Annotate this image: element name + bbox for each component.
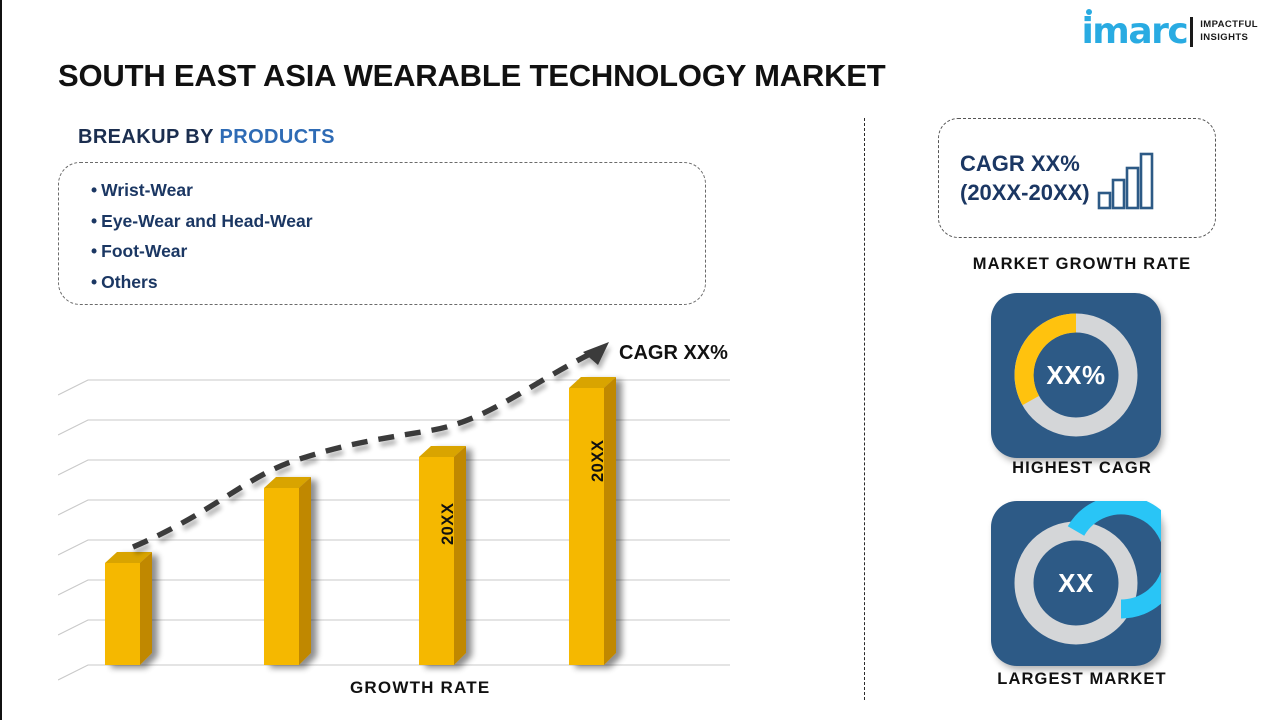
largest-market-tile: XX (991, 501, 1161, 666)
breakup-heading-prefix: BREAKUP BY (78, 126, 219, 148)
slide-canvas: imarc IMPACTFUL INSIGHTS SOUTH EAST ASIA… (0, 0, 1280, 720)
market-growth-line1: CAGR XX% (960, 149, 1090, 178)
bar-2 (264, 477, 311, 665)
chart-svg (58, 330, 748, 685)
bar-1 (105, 552, 152, 665)
bullet-icon: • (91, 241, 97, 261)
list-item: •Foot-Wear (91, 236, 313, 267)
market-growth-line2: (20XX-20XX) (960, 178, 1090, 207)
list-item-label: Foot-Wear (101, 241, 187, 261)
bullet-icon: • (91, 211, 97, 231)
page-title: SOUTH EAST ASIA WEARABLE TECHNOLOGY MARK… (58, 58, 885, 94)
list-item-label: Wrist-Wear (101, 180, 193, 200)
products-box: •Wrist-Wear •Eye-Wear and Head-Wear •Foo… (58, 162, 706, 305)
bar-label-3: 20XX (439, 503, 458, 545)
largest-market-caption: LARGEST MARKET (882, 670, 1280, 689)
vertical-divider (864, 118, 865, 700)
bullet-icon: • (91, 272, 97, 292)
products-list: •Wrist-Wear •Eye-Wear and Head-Wear •Foo… (91, 175, 313, 297)
market-growth-rate-caption: MARKET GROWTH RATE (882, 255, 1280, 274)
chart-x-axis-label: GROWTH RATE (350, 678, 490, 698)
largest-market-value: XX (991, 501, 1161, 666)
breakup-heading: BREAKUP BY PRODUCTS (78, 126, 335, 149)
ascending-bars-icon (1096, 149, 1158, 211)
list-item: •Others (91, 267, 313, 298)
market-growth-box: CAGR XX% (20XX-20XX) (938, 118, 1216, 238)
highest-cagr-caption: HIGHEST CAGR (882, 459, 1280, 478)
list-item-label: Others (101, 272, 157, 292)
bar-4 (569, 377, 616, 665)
trend-line (133, 342, 609, 547)
list-item: •Eye-Wear and Head-Wear (91, 206, 313, 237)
market-growth-text: CAGR XX% (20XX-20XX) (960, 149, 1090, 207)
bullet-icon: • (91, 180, 97, 200)
highest-cagr-value: XX% (991, 293, 1161, 458)
highest-cagr-tile: XX% (991, 293, 1161, 458)
bar-3 (419, 446, 466, 665)
breakup-heading-highlight: PRODUCTS (219, 126, 334, 148)
growth-bar-chart: 20XX 20XX CAGR XX% GROWTH RATE (58, 330, 748, 685)
right-panel: CAGR XX% (20XX-20XX) MARKET GROWTH RATE … (882, 0, 1280, 720)
chart-cagr-annotation: CAGR XX% (619, 342, 728, 365)
list-item-label: Eye-Wear and Head-Wear (101, 211, 312, 231)
chart-gridlines (58, 380, 730, 680)
list-item: •Wrist-Wear (91, 175, 313, 206)
bar-label-4: 20XX (589, 440, 608, 482)
